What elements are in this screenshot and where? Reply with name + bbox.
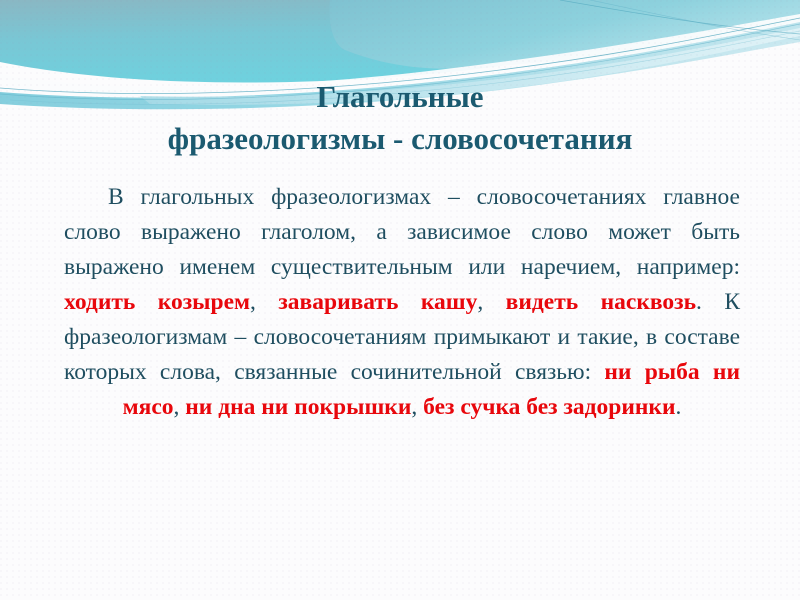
presentation-slide: Глагольные фразеологизмы - словосочетани… — [0, 0, 800, 600]
title-line-1: Глагольные — [70, 76, 730, 118]
body-text-run: , — [477, 289, 505, 315]
body-text-run: , — [174, 394, 186, 420]
slide-body-text: В глагольных фразеологизмах – словосочет… — [64, 180, 740, 425]
idiom-phrase: видеть насквозь — [506, 289, 696, 315]
slide-content: Глагольные фразеологизмы - словосочетани… — [0, 0, 800, 600]
body-text-run: В глагольных фразеологизмах – словосочет… — [64, 184, 740, 280]
body-text-run: , — [411, 394, 423, 420]
idiom-phrase: заваривать кашу — [278, 289, 477, 315]
idiom-phrase: ни дна ни покрышки — [185, 394, 411, 420]
idiom-phrase: ходить козырем — [64, 289, 250, 315]
body-text-run: . — [676, 394, 682, 420]
slide-title: Глагольные фразеологизмы - словосочетани… — [70, 76, 730, 160]
idiom-phrase: без сучка без задоринки — [423, 394, 675, 420]
body-text-run: , — [250, 289, 278, 315]
title-line-2: фразеологизмы - словосочетания — [70, 118, 730, 160]
